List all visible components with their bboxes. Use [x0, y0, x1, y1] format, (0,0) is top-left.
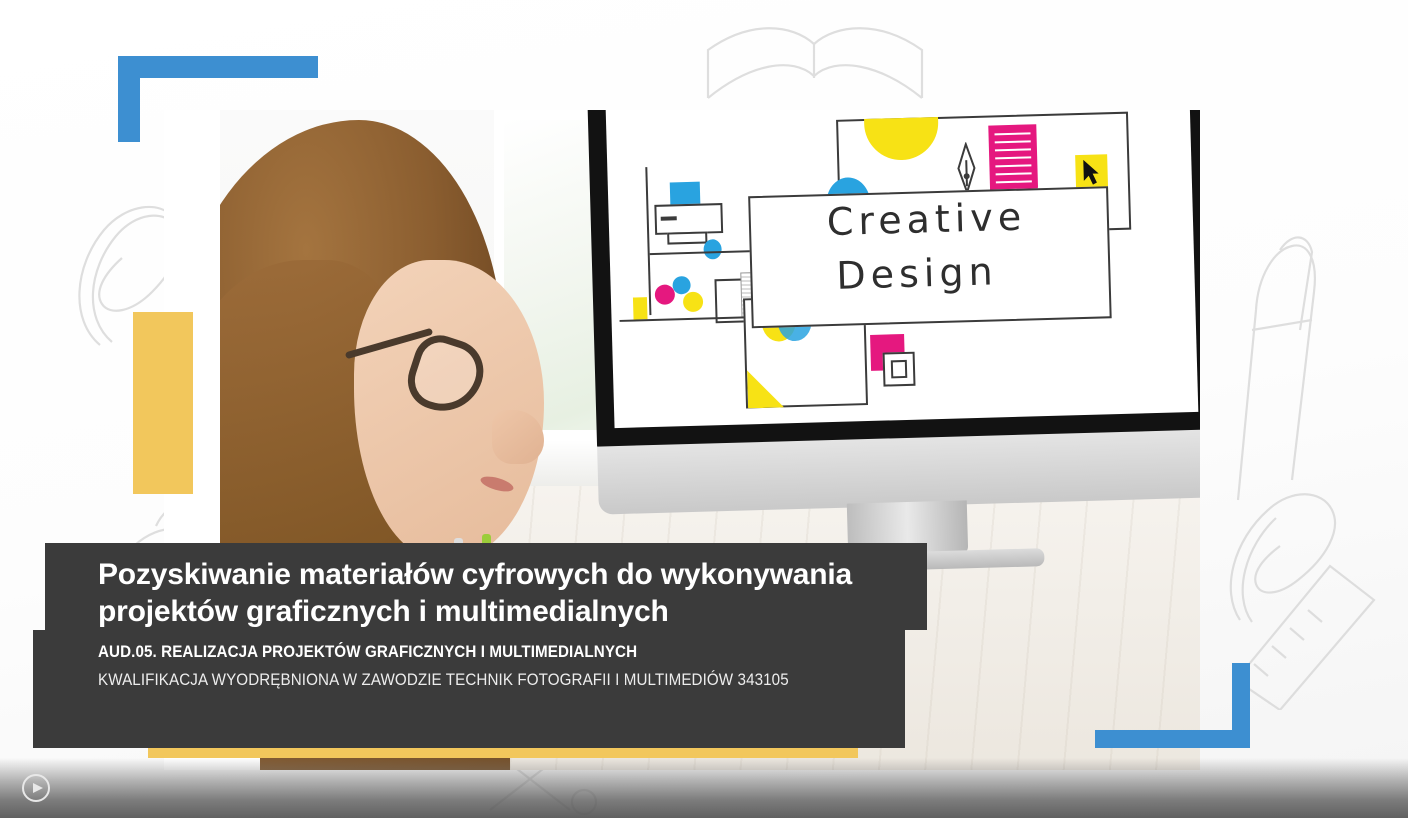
qualification-code: AUD.05. REALIZACJA PROJEKTÓW GRAFICZNYCH… [98, 643, 834, 662]
cursor-icon [1081, 158, 1100, 186]
pen-doodle-icon [1222, 180, 1332, 510]
caption-panel: Pozyskiwanie materiałów cyfrowych do wyk… [33, 543, 915, 748]
ruler-doodle-icon [1230, 560, 1380, 710]
eyeglasses [410, 338, 550, 428]
screen-word-creative: Creative [826, 195, 1026, 245]
play-button[interactable] [22, 774, 50, 802]
player-control-bar: muz. Casey Lalonde - Foxkorilyn auto 1x [0, 758, 1408, 818]
page-title: Pozyskiwanie materiałów cyfrowych do wyk… [98, 557, 898, 630]
decor-yellow-block [133, 312, 193, 494]
pen-nib-icon [955, 142, 978, 195]
monitor-screen: Creative Design [606, 110, 1199, 428]
video-poster[interactable]: Creative Design Pozyskiwanie m [0, 0, 1408, 818]
decor-bracket-bottom-right [1095, 663, 1250, 748]
qualification-description: KWALIFIKACJA WYODRĘBNIONA W ZAWODZIE TEC… [98, 671, 834, 690]
open-book-doodle-icon [700, 20, 930, 110]
decor-bracket-top-left [118, 56, 318, 142]
video-player: Creative Design Pozyskiwanie m [0, 0, 1408, 818]
screen-word-design: Design [836, 249, 998, 297]
play-icon [33, 783, 43, 793]
imac-monitor: Creative Design [587, 110, 1200, 591]
